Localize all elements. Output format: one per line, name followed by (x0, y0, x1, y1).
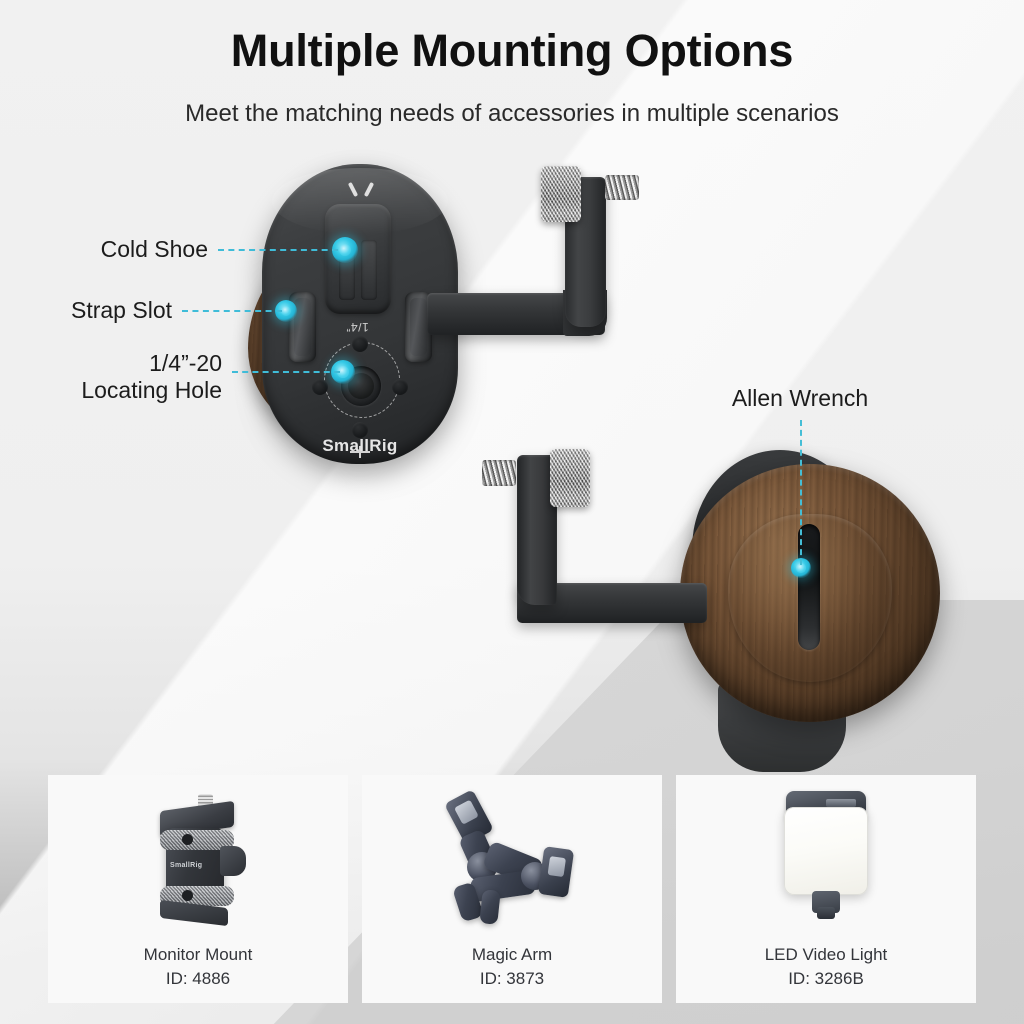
product-card-image-magic-arm (362, 785, 662, 935)
threaded-screw-stud-bottom (482, 460, 516, 486)
led-light-diffuser-panel (784, 807, 868, 895)
product-card-image-led-video-light (676, 785, 976, 935)
monitor-mount-wing-knob (220, 846, 246, 876)
knurled-thumbscrew-top (541, 166, 581, 222)
page-title: Multiple Mounting Options (0, 26, 1024, 76)
product-card-name: Monitor Mount (144, 943, 253, 966)
wooden-locking-knob (680, 464, 940, 722)
monitor-mount-ring-button-upper (182, 834, 193, 845)
callout-label-strap-slot: Strap Slot (0, 297, 172, 324)
threaded-screw-stud-top (605, 175, 639, 200)
magic-arm-illustration (437, 790, 587, 930)
knurled-thumbscrew-bottom (550, 449, 590, 507)
led-light-shoe-adapter (812, 891, 840, 913)
monitor-mount-brand: SmallRig (170, 862, 202, 869)
magic-arm-lower-arm (479, 889, 500, 925)
callout-label-allen-wrench: Allen Wrench (680, 385, 920, 412)
locating-pin-left (312, 379, 328, 395)
product-card[interactable]: SmallRig Monitor Mount ID: 4886 (48, 775, 348, 1003)
product-card-image-monitor-mount: SmallRig (48, 785, 348, 935)
locating-pin-right (392, 379, 408, 395)
leader-line-cold-shoe (218, 249, 338, 251)
leader-line-strap-slot (182, 310, 282, 312)
leader-line-locating-hole (232, 371, 340, 373)
thread-size-marking: 1/4” (346, 320, 369, 334)
page-subtitle: Meet the matching needs of accessories i… (0, 100, 1024, 128)
led-light-illustration (774, 789, 878, 931)
product-rear-view (460, 430, 960, 780)
callout-label-cold-shoe: Cold Shoe (0, 236, 208, 263)
brand-logo: SmallRig (262, 436, 458, 456)
magic-arm-end-plate (538, 846, 574, 898)
callout-label-locating-hole: 1/4”-20 Locating Hole (0, 350, 222, 404)
product-card[interactable]: Magic Arm ID: 3873 (362, 775, 662, 1003)
product-card-id: ID: 3286B (788, 967, 864, 990)
orientation-arrow-icon (348, 182, 374, 196)
product-card-id: ID: 4886 (166, 967, 230, 990)
product-card-name: LED Video Light (765, 943, 888, 966)
monitor-mount-illustration: SmallRig (146, 790, 250, 930)
infographic-canvas: Multiple Mounting Options Meet the match… (0, 0, 1024, 1024)
product-card-id: ID: 3873 (480, 967, 544, 990)
leader-line-allen-wrench (800, 420, 802, 565)
locating-pin-top (352, 336, 368, 352)
related-products-row: SmallRig Monitor Mount ID: 4886 (48, 775, 976, 1003)
product-card-name: Magic Arm (472, 943, 552, 966)
cold-shoe-rail-left (361, 240, 377, 300)
product-card[interactable]: LED Video Light ID: 3286B (676, 775, 976, 1003)
monitor-mount-ring-button-lower (182, 890, 193, 901)
